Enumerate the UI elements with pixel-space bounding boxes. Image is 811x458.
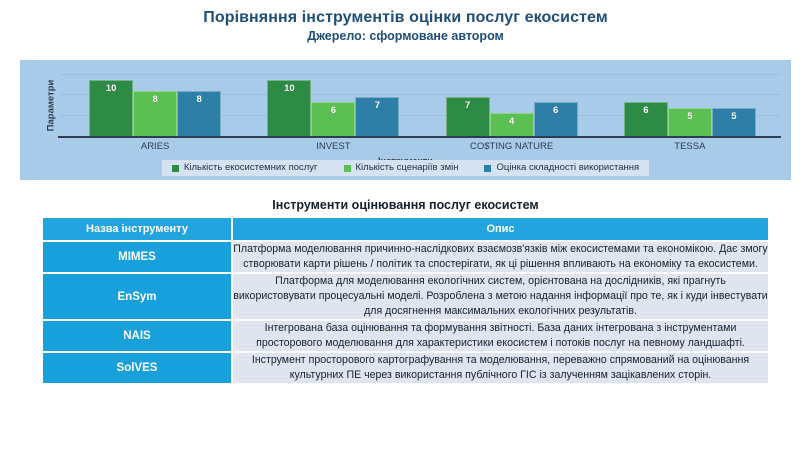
bar-value-label: 6: [643, 103, 648, 116]
legend-label: Оцінка складності використання: [496, 162, 639, 174]
column-header-description: Опис: [233, 218, 768, 240]
bar-value-label: 8: [196, 92, 201, 105]
cell-tool-name: SolVES: [43, 353, 231, 383]
table-header-row: Назва інструменту Опис: [43, 218, 768, 240]
bar: 6: [624, 102, 668, 136]
bar-value-label: 10: [106, 81, 117, 94]
bar: 7: [355, 97, 399, 136]
legend-item[interactable]: Кількість сценаріїв змін: [344, 162, 459, 174]
bar: 10: [89, 80, 133, 136]
category-label: CO$TING NATURE: [423, 140, 601, 156]
bar: 5: [668, 108, 712, 136]
legend-item[interactable]: Оцінка складності використання: [484, 162, 639, 174]
cell-tool-name: MIMES: [43, 242, 231, 272]
legend-swatch-icon: [172, 165, 179, 172]
table-row: MIMESПлатформа моделювання причинно-насл…: [43, 242, 768, 272]
bar: 8: [177, 91, 221, 136]
page-subtitle: Джерело: сформоване автором: [0, 29, 811, 44]
slide-root: Порівняння інструментів оцінки послуг ек…: [0, 0, 811, 458]
legend-item[interactable]: Кількість екосистемних послуг: [172, 162, 318, 174]
legend-label: Кількість сценаріїв змін: [356, 162, 459, 174]
cell-tool-name: NAIS: [43, 321, 231, 351]
title-block: Порівняння інструментів оцінки послуг ек…: [0, 0, 811, 44]
bar: 5: [712, 108, 756, 136]
bar-value-label: 5: [731, 109, 736, 122]
bar-value-label: 6: [553, 103, 558, 116]
chart-x-axis-line: [58, 136, 781, 138]
cell-tool-description: Інструмент просторового картографування …: [233, 353, 768, 383]
bar: 8: [133, 91, 177, 136]
bar-value-label: 7: [465, 98, 470, 111]
bar-value-label: 7: [375, 98, 380, 111]
cell-tool-description: Платформа для моделювання екологічних си…: [233, 274, 768, 319]
legend-swatch-icon: [344, 165, 351, 172]
bar-group: 1088: [66, 74, 244, 136]
cell-tool-description: Платформа моделювання причинно-наслідков…: [233, 242, 768, 272]
chart-legend: Кількість екосистемних послугКількість с…: [20, 160, 791, 176]
legend-label: Кількість екосистемних послуг: [184, 162, 318, 174]
bar: 10: [267, 80, 311, 136]
cell-tool-description: Інтегрована база оцінювання та формуванн…: [233, 321, 768, 351]
table-head: Назва інструменту Опис: [43, 218, 768, 240]
category-label: TESSA: [601, 140, 779, 156]
bar-group: 655: [601, 74, 779, 136]
bar-value-label: 5: [687, 109, 692, 122]
table-caption: Інструменти оцінювання послуг екосистем: [0, 198, 811, 212]
chart-panel: Параметри 10881067746655 ARIESINVESTCO$T…: [20, 60, 791, 180]
bar: 6: [534, 102, 578, 136]
tools-table: Назва інструменту Опис MIMESПлатформа мо…: [43, 216, 768, 385]
page-title: Порівняння інструментів оцінки послуг ек…: [0, 8, 811, 27]
bar: 4: [490, 113, 534, 136]
bar: 7: [446, 97, 490, 136]
table-row: EnSymПлатформа для моделювання екологічн…: [43, 274, 768, 319]
legend-swatch-icon: [484, 165, 491, 172]
table-row: NAISІнтегрована база оцінювання та форму…: [43, 321, 768, 351]
chart-category-labels: ARIESINVESTCO$TING NATURETESSA: [66, 140, 779, 156]
column-header-name: Назва інструменту: [43, 218, 231, 240]
chart-legend-items: Кількість екосистемних послугКількість с…: [162, 160, 649, 176]
bar-value-label: 6: [331, 103, 336, 116]
chart-y-axis-title-text: Параметри: [46, 79, 57, 131]
bar: 6: [311, 102, 355, 136]
chart-bar-groups: 10881067746655: [66, 74, 779, 136]
bar-value-label: 10: [284, 81, 295, 94]
table-body: MIMESПлатформа моделювання причинно-насл…: [43, 242, 768, 383]
bar-group: 746: [423, 74, 601, 136]
bar-value-label: 4: [509, 114, 514, 127]
table-row: SolVESІнструмент просторового картографу…: [43, 353, 768, 383]
cell-tool-name: EnSym: [43, 274, 231, 319]
category-label: ARIES: [66, 140, 244, 156]
category-label: INVEST: [244, 140, 422, 156]
bar-value-label: 8: [152, 92, 157, 105]
bar-group: 1067: [244, 74, 422, 136]
